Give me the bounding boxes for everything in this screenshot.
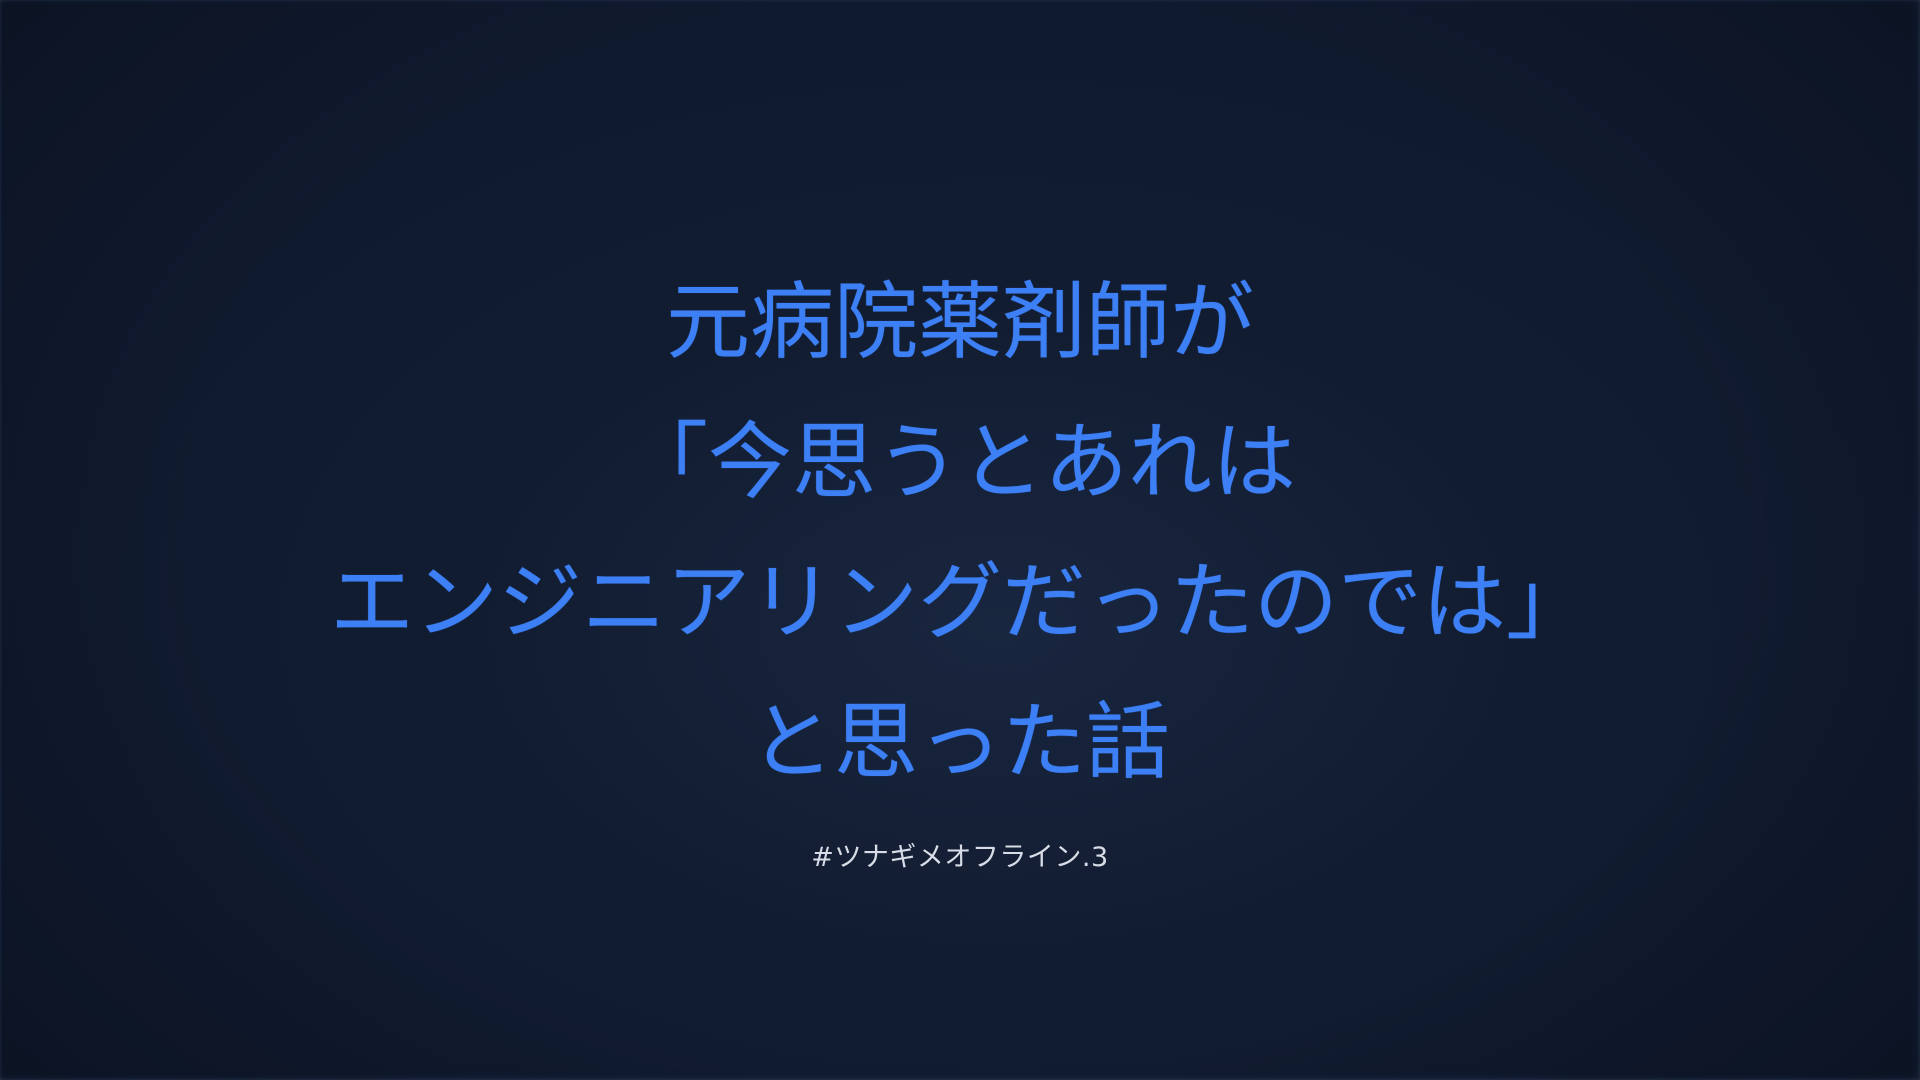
title-line-1: 元病院薬剤師が — [0, 252, 1920, 392]
title-line-2: 「今思うとあれは — [0, 392, 1920, 532]
slide-content: 元病院薬剤師が 「今思うとあれは エンジニアリングだったのでは」 と思った話 #… — [0, 0, 1920, 1080]
slide-subtitle-hashtag: #ツナギメオフライン.3 — [0, 840, 1920, 876]
title-line-4: と思った話 — [0, 672, 1920, 812]
presentation-slide: 元病院薬剤師が 「今思うとあれは エンジニアリングだったのでは」 と思った話 #… — [0, 0, 1920, 1080]
slide-title: 元病院薬剤師が 「今思うとあれは エンジニアリングだったのでは」 と思った話 — [0, 252, 1920, 812]
title-line-3: エンジニアリングだったのでは」 — [0, 532, 1920, 672]
